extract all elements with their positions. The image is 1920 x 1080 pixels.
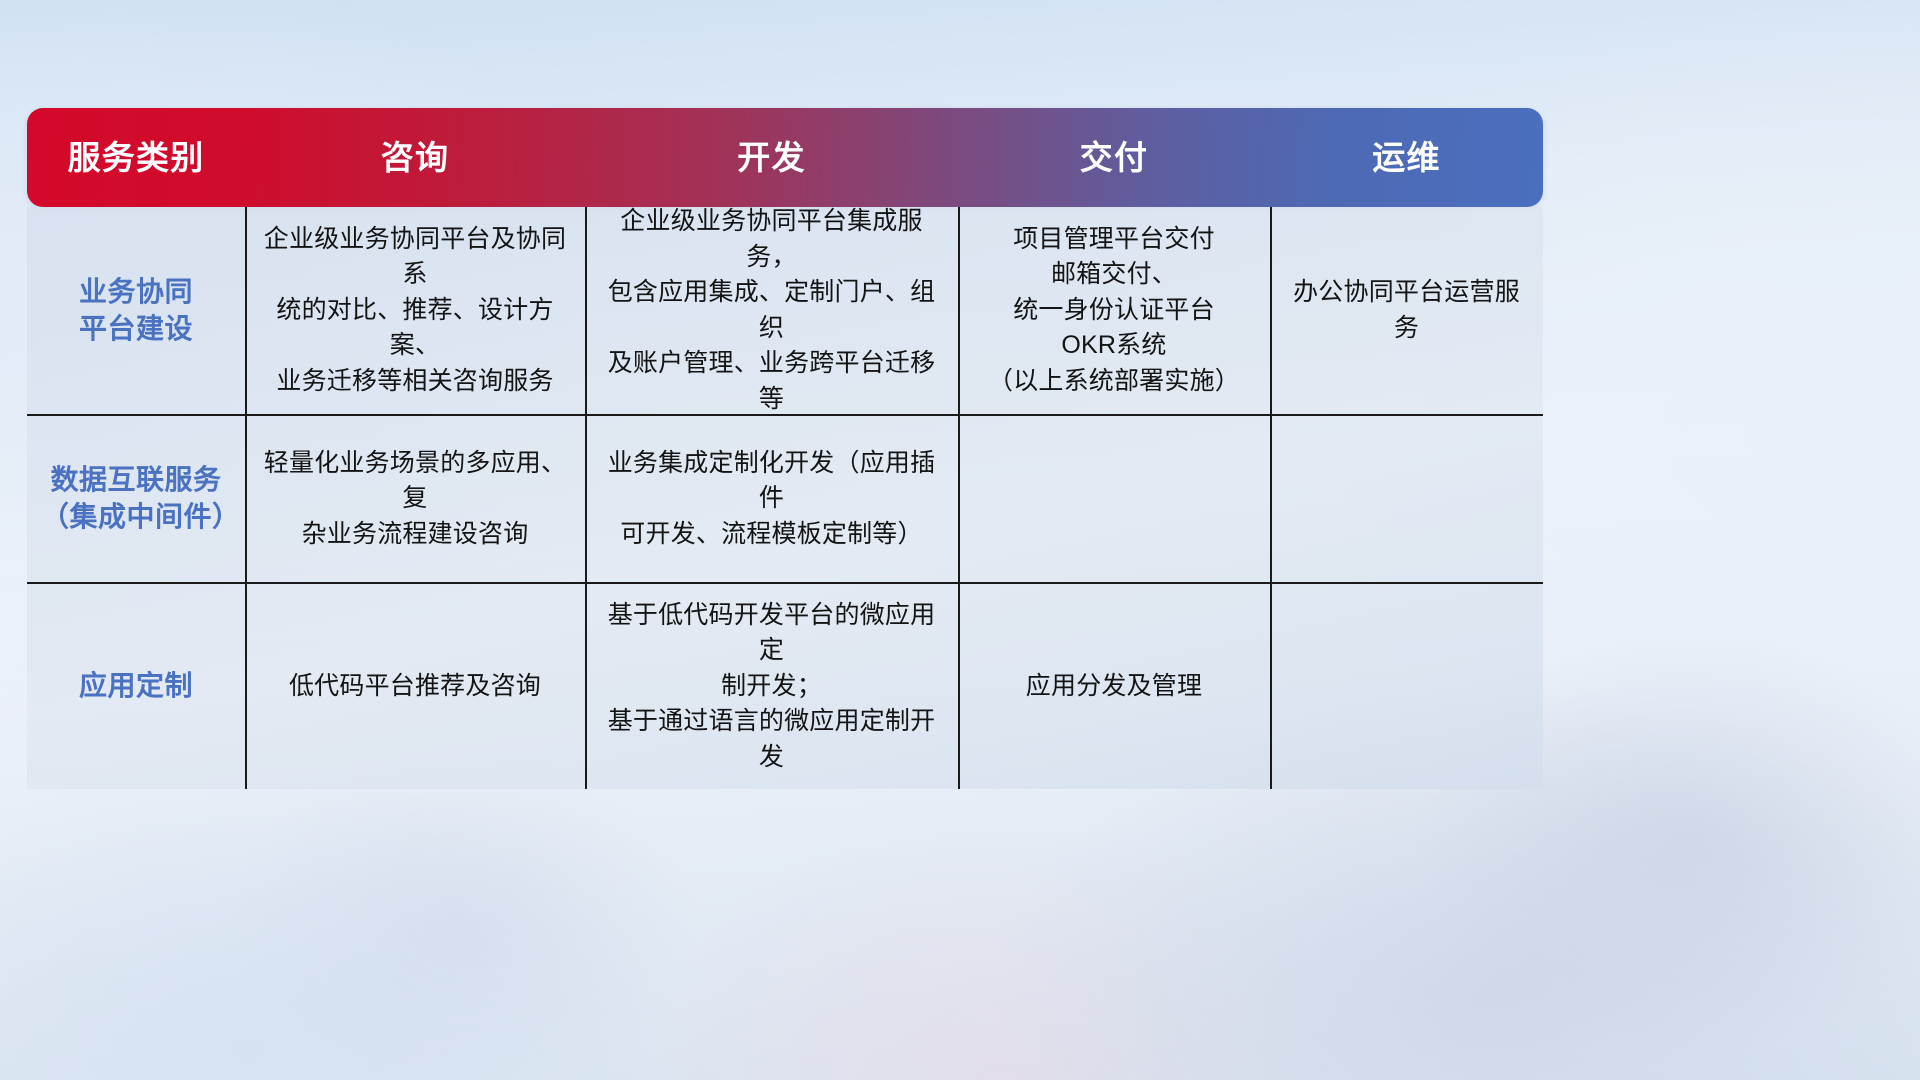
- row-label: 应用定制: [79, 668, 193, 705]
- cell-operations: [1270, 584, 1543, 789]
- table-header-row: 服务类别 咨询 开发 交付 运维: [27, 108, 1543, 207]
- cell-delivery: 应用分发及管理: [958, 584, 1270, 789]
- row-label-cell: 数据互联服务 （集成中间件）: [27, 416, 245, 582]
- cell-delivery: 项目管理平台交付 邮箱交付、 统一身份认证平台 OKR系统 （以上系统部署实施）: [958, 207, 1270, 414]
- cell-consulting: 低代码平台推荐及咨询: [245, 584, 585, 789]
- row-label-cell: 业务协同 平台建设: [27, 207, 245, 414]
- cell-delivery: [958, 416, 1270, 582]
- cell-text: 业务集成定制化开发（应用插件 可开发、流程模板定制等）: [599, 446, 944, 553]
- cell-text: 企业级业务协同平台集成服务， 包含应用集成、定制门户、组织 及账户管理、业务跨平…: [599, 204, 944, 417]
- table-header-delivery: 交付: [958, 141, 1270, 174]
- cell-text: 项目管理平台交付 邮箱交付、 统一身份认证平台 OKR系统 （以上系统部署实施）: [988, 222, 1240, 400]
- row-label-cell: 应用定制: [27, 584, 245, 789]
- table-row: 数据互联服务 （集成中间件） 轻量化业务场景的多应用、复 杂业务流程建设咨询 业…: [27, 416, 1543, 584]
- table-header-development: 开发: [585, 141, 958, 174]
- cell-operations: [1270, 416, 1543, 582]
- cell-text: 应用分发及管理: [1026, 669, 1202, 705]
- cell-text: 企业级业务协同平台及协同系 统的对比、推荐、设计方案、 业务迁移等相关咨询服务: [259, 222, 571, 400]
- table-header-operations: 运维: [1270, 141, 1543, 174]
- table-header-consulting: 咨询: [245, 141, 585, 174]
- cell-text: 基于低代码开发平台的微应用定 制开发； 基于通过语言的微应用定制开发: [599, 598, 944, 776]
- cell-text: 办公协同平台运营服务: [1284, 275, 1529, 346]
- service-category-table: 服务类别 咨询 开发 交付 运维 业务协同 平台建设 企业级业务协同平台及协同系…: [27, 108, 1543, 789]
- cell-development: 业务集成定制化开发（应用插件 可开发、流程模板定制等）: [585, 416, 958, 582]
- cell-development: 企业级业务协同平台集成服务， 包含应用集成、定制门户、组织 及账户管理、业务跨平…: [585, 207, 958, 414]
- cell-consulting: 轻量化业务场景的多应用、复 杂业务流程建设咨询: [245, 416, 585, 582]
- cell-development: 基于低代码开发平台的微应用定 制开发； 基于通过语言的微应用定制开发: [585, 584, 958, 789]
- table-body: 业务协同 平台建设 企业级业务协同平台及协同系 统的对比、推荐、设计方案、 业务…: [27, 207, 1543, 789]
- table-header-service-category: 服务类别: [27, 141, 245, 174]
- cell-text: 低代码平台推荐及咨询: [289, 669, 541, 705]
- table-row: 业务协同 平台建设 企业级业务协同平台及协同系 统的对比、推荐、设计方案、 业务…: [27, 207, 1543, 416]
- row-label: 数据互联服务 （集成中间件）: [41, 462, 231, 536]
- cell-consulting: 企业级业务协同平台及协同系 统的对比、推荐、设计方案、 业务迁移等相关咨询服务: [245, 207, 585, 414]
- row-label: 业务协同 平台建设: [79, 274, 193, 348]
- cell-text: 轻量化业务场景的多应用、复 杂业务流程建设咨询: [259, 446, 571, 553]
- table-row: 应用定制 低代码平台推荐及咨询 基于低代码开发平台的微应用定 制开发； 基于通过…: [27, 584, 1543, 789]
- cell-operations: 办公协同平台运营服务: [1270, 207, 1543, 414]
